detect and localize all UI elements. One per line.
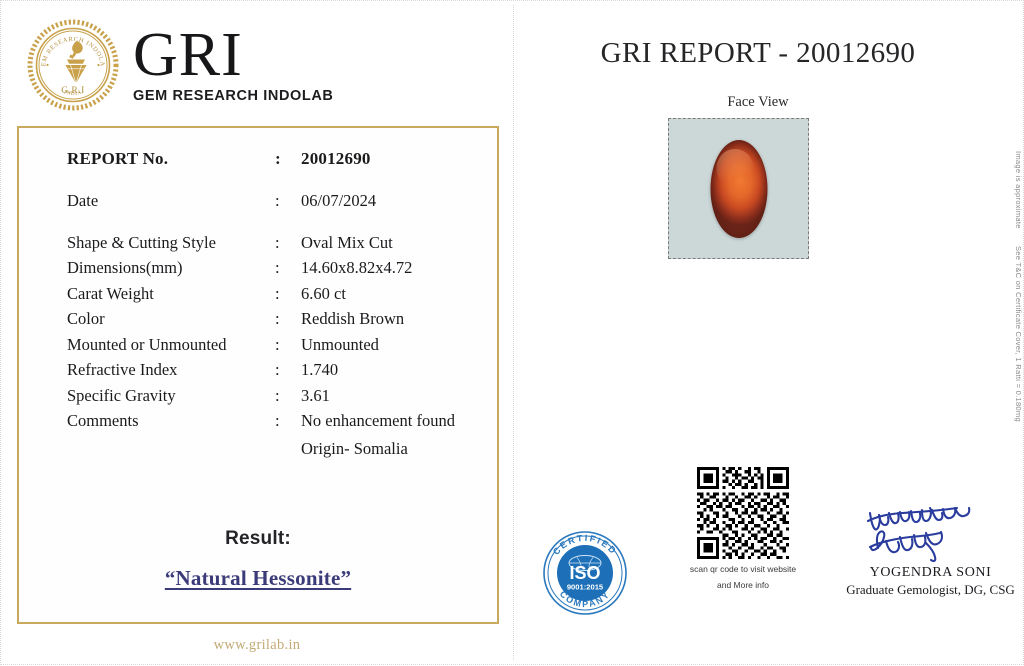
field-label: Dimensions(mm) [67, 260, 275, 277]
field-value: 1.740 [301, 362, 487, 379]
side-note-image-approximate: Image is approximate [1014, 151, 1023, 229]
qr-caption-line1: scan qr code to visit website [688, 564, 798, 575]
field-separator: : [275, 286, 301, 303]
brand-header: GEM RESEARCH INDOLAB INDIA [27, 19, 334, 111]
field-value: 06/07/2024 [301, 193, 487, 210]
table-row: Dimensions(mm) : 14.60x8.82x4.72 [67, 260, 487, 277]
certificate-page: GEM RESEARCH INDOLAB INDIA [0, 0, 1024, 665]
face-view-label: Face View [513, 94, 1003, 111]
left-page: GEM RESEARCH INDOLAB INDIA [1, 1, 513, 666]
gem-photo-frame [668, 118, 809, 259]
right-page: GRI REPORT - 20012690 Face View ISO 9001… [513, 1, 1024, 666]
field-separator: : [275, 388, 301, 405]
result-section: Result: “Natural Hessonite” [19, 528, 497, 591]
table-row: Mounted or Unmounted : Unmounted [67, 337, 487, 354]
table-row: Color : Reddish Brown [67, 311, 487, 328]
table-row: Carat Weight : 6.60 ct [67, 286, 487, 303]
signatory-name: YOGENDRA SONI [843, 565, 1018, 581]
qr-caption-line2: and More info [688, 580, 798, 591]
field-value: No enhancement found [301, 413, 487, 430]
field-label: Mounted or Unmounted [67, 337, 275, 354]
table-row: Date : 06/07/2024 [67, 193, 487, 210]
iso-certified-badge-icon: ISO 9001:2015 CERTIFIED COMPANY [541, 529, 629, 617]
details-table: REPORT No. : 20012690 Date : 06/07/2024 … [67, 150, 487, 459]
field-value: Unmounted [301, 337, 487, 354]
field-label: Specific Gravity [67, 388, 275, 405]
page-title: GRI REPORT - 20012690 [513, 37, 1003, 70]
field-value: Reddish Brown [301, 311, 487, 328]
field-value: 20012690 [301, 150, 487, 167]
svg-text:9001:2015: 9001:2015 [567, 583, 604, 592]
signature-block: YOGENDRA SONI Graduate Gemologist, DG, C… [843, 501, 1018, 598]
result-value: “Natural Hessonite” [19, 566, 497, 591]
field-separator: : [275, 413, 301, 430]
field-separator: : [275, 235, 301, 252]
brand-name: GRI [133, 26, 334, 85]
field-value: 3.61 [301, 388, 487, 405]
field-value: 6.60 ct [301, 286, 487, 303]
field-value: Oval Mix Cut [301, 235, 487, 252]
svg-text:ISO: ISO [569, 563, 600, 583]
field-label: Shape & Cutting Style [67, 235, 275, 252]
result-label: Result: [19, 528, 497, 550]
field-label: Date [67, 193, 275, 210]
gri-seal-icon: GEM RESEARCH INDOLAB INDIA [27, 19, 119, 111]
details-frame: REPORT No. : 20012690 Date : 06/07/2024 … [17, 126, 499, 624]
field-value: 14.60x8.82x4.72 [301, 260, 487, 277]
brand-tagline: GEM RESEARCH INDOLAB [133, 88, 334, 104]
comments-second-line: Origin- Somalia [67, 439, 487, 459]
svg-text:G.R.I: G.R.I [61, 86, 85, 96]
field-label: Comments [67, 413, 275, 430]
handwritten-signature-icon [856, 501, 1006, 563]
table-row: Specific Gravity : 3.61 [67, 388, 487, 405]
qr-section: scan qr code to visit website and More i… [688, 467, 798, 590]
field-label: Color [67, 311, 275, 328]
field-label: REPORT No. [67, 150, 275, 167]
brand-wordmark: GRI GEM RESEARCH INDOLAB [133, 26, 334, 105]
field-separator: : [275, 311, 301, 328]
table-row: REPORT No. : 20012690 [67, 150, 487, 167]
website-footer[interactable]: www.grilab.in [1, 637, 513, 654]
field-separator: : [275, 337, 301, 354]
field-separator: : [275, 362, 301, 379]
side-note-terms: See T&C on Certificate Cover, 1 Ratti = … [1014, 246, 1023, 422]
field-separator: : [275, 260, 301, 277]
field-separator: : [275, 193, 301, 210]
table-row: Comments : No enhancement found [67, 413, 487, 430]
signatory-role: Graduate Gemologist, DG, CSG [843, 582, 1018, 598]
qr-code-icon[interactable] [697, 467, 789, 559]
field-label: Carat Weight [67, 286, 275, 303]
table-row: Shape & Cutting Style : Oval Mix Cut [67, 235, 487, 252]
field-label: Refractive Index [67, 362, 275, 379]
gemstone-image [710, 140, 767, 238]
field-separator: : [275, 150, 301, 167]
table-row: Refractive Index : 1.740 [67, 362, 487, 379]
